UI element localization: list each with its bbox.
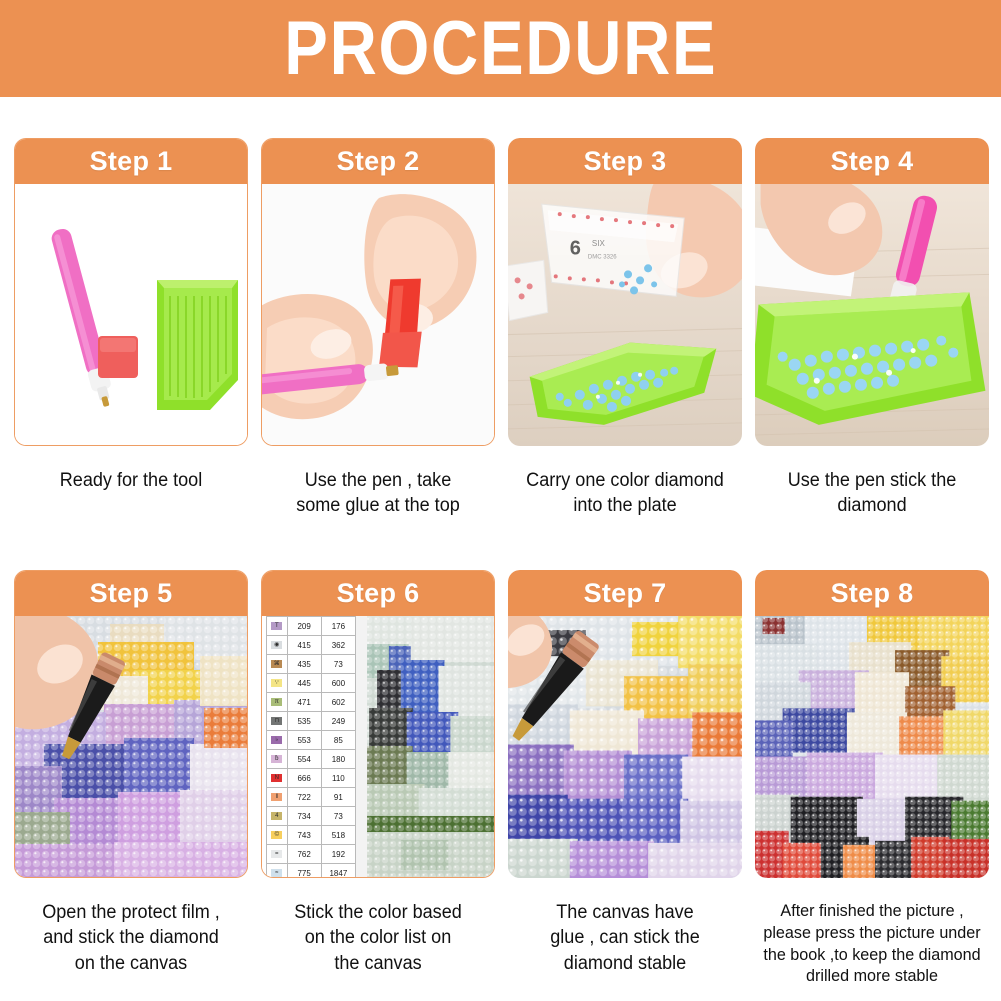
step-caption-1: Ready for the tool [20,468,242,493]
step-photo-1 [15,184,247,445]
color-symbol-cell: ⌘ [267,655,288,674]
step-photo-8 [755,616,989,878]
color-swatch: ≈ [271,869,282,877]
page-title: PROCEDURE [284,11,717,87]
color-code-cell: 762 [287,845,321,864]
color-symbol-cell: ƀ [267,750,288,769]
pen-placing-diamond-illustration [508,616,742,878]
color-swatch: = [271,850,282,858]
step-card-7[interactable]: Step 7 [508,570,742,878]
svg-text:SIX: SIX [592,239,606,248]
color-symbol-cell: ◉ [267,636,288,655]
step-photo-7 [508,616,742,878]
color-list-row: ⊓535249 [267,712,356,731]
pouring-diamonds-illustration: 6 SIX DMC 3326 [508,184,742,446]
color-code-cell: 554 [287,750,321,769]
color-list-row: ƀ554180 [267,750,356,769]
color-list-row: ⌘43573 [267,655,356,674]
color-list-row: ≈7751847 [267,864,356,878]
color-swatch: π [271,698,282,706]
step-cell-1: Step 1 [14,138,248,493]
step-header-label-7: Step 7 [584,578,667,609]
color-symbol-cell: ≈ [267,864,288,878]
step-cell-7: Step 7 [508,570,742,976]
color-count-cell: 518 [321,826,355,845]
color-code-cell: 553 [287,731,321,750]
steps-row-1: Step 1 [0,138,1001,558]
color-swatch: ♭ [271,736,282,744]
color-list-row: =762192 [267,845,356,864]
color-list-row: N666110 [267,769,356,788]
step-header-1: Step 1 [14,138,248,184]
color-code-cell: 415 [287,636,321,655]
color-swatch: ‖ [271,793,282,801]
color-code-cell: 535 [287,712,321,731]
color-code-cell: 435 [287,655,321,674]
step-cell-2: Step 2 [261,138,495,519]
step-caption-3: Carry one color diamond into the plate [514,468,736,519]
color-count-cell: 1847 [321,864,355,878]
svg-text:6: 6 [570,237,581,259]
step-header-label-8: Step 8 [831,578,914,609]
color-symbol-cell: = [267,845,288,864]
step-cell-8: Step 8 [755,570,989,987]
color-symbol-cell: ‖ [267,788,288,807]
color-list-row: π471602 [267,693,356,712]
color-count-cell: 73 [321,807,355,826]
step-caption-2: Use the pen , take some glue at the top [267,468,489,519]
step-caption-5: Open the protect film , and stick the di… [20,900,242,976]
color-code-cell: 743 [287,826,321,845]
pen-picking-diamond-illustration [755,184,989,446]
color-swatch: ⊓ [271,717,282,725]
color-symbol-cell: ♭ [267,731,288,750]
step-caption-4: Use the pen stick the diamond [761,468,983,519]
color-swatch: ⌘ [271,660,282,668]
color-count-cell: 600 [321,674,355,693]
color-symbol-cell: π [267,693,288,712]
step-header-6: Step 6 [261,570,495,616]
step-header-label-6: Step 6 [337,578,420,609]
color-list-row: ◉415362 [267,636,356,655]
color-list-row: 473473 [267,807,356,826]
step-header-label-5: Step 5 [90,578,173,609]
color-swatch: ◉ [271,641,282,649]
step-card-3[interactable]: Step 3 [508,138,742,446]
color-count-cell: 192 [321,845,355,864]
color-count-cell: 176 [321,617,355,636]
step-header-5: Step 5 [14,570,248,616]
step-card-1[interactable]: Step 1 [14,138,248,446]
step-cell-4: Step 4 [755,138,989,519]
step-caption-7: The canvas have glue , can stick the dia… [514,900,736,976]
color-symbol-cell: T [267,617,288,636]
step-header-2: Step 2 [261,138,495,184]
color-list-row: T209176 [267,617,356,636]
svg-text:DMC 3326: DMC 3326 [588,254,617,260]
color-code-cell: 722 [287,788,321,807]
tool-kit-illustration [15,184,247,445]
color-code-cell: 734 [287,807,321,826]
step-cell-3: Step 3 [508,138,742,519]
step-card-2[interactable]: Step 2 [261,138,495,446]
step-photo-5 [15,616,247,877]
step-header-4: Step 4 [755,138,989,184]
finished-painting-illustration [755,616,989,878]
color-symbol-cell: 4 [267,807,288,826]
steps-row-2: Step 5 [0,570,1001,990]
color-swatch: N [271,774,282,782]
color-symbol-cell: © [267,826,288,845]
color-count-cell: 249 [321,712,355,731]
hands-pen-glue-illustration [262,184,494,445]
step-photo-2 [262,184,494,445]
color-swatch: © [271,831,282,839]
step-card-8[interactable]: Step 8 [755,570,989,878]
color-swatch: 4 [271,812,282,820]
color-count-cell: 73 [321,655,355,674]
step-card-6[interactable]: Step 6 [261,570,495,878]
color-list-row: ‖72291 [267,788,356,807]
step-card-5[interactable]: Step 5 [14,570,248,878]
step-header-label-4: Step 4 [831,146,914,177]
step-cell-5: Step 5 [14,570,248,976]
step-photo-3: 6 SIX DMC 3326 [508,184,742,446]
hand-pen-on-canvas-illustration [15,616,247,877]
color-count-cell: 91 [321,788,355,807]
step-caption-6: Stick the color based on the color list … [267,900,489,976]
color-code-cell: 445 [287,674,321,693]
color-code-cell: 209 [287,617,321,636]
color-count-cell: 180 [321,750,355,769]
steps-grid: Step 1 [0,97,1001,1001]
color-count-cell: 602 [321,693,355,712]
color-swatch: T [271,622,282,630]
step-photo-6: T209176◉415362⌘43573∵445600π471602⊓53524… [262,616,494,877]
step-header-8: Step 8 [755,570,989,616]
step-header-label-2: Step 2 [337,146,420,177]
step-photo-4 [755,184,989,446]
color-list-row: ♭55385 [267,731,356,750]
color-symbol-cell: ∵ [267,674,288,693]
color-count-cell: 110 [321,769,355,788]
color-count-cell: 362 [321,636,355,655]
color-list-table: T209176◉415362⌘43573∵445600π471602⊓53524… [266,616,356,877]
color-code-cell: 666 [287,769,321,788]
color-swatch: ƀ [271,755,282,763]
color-list-row: ∵445600 [267,674,356,693]
color-list-table-container: T209176◉415362⌘43573∵445600π471602⊓53524… [266,616,356,877]
step-caption-8: After finished the picture , please pres… [761,900,983,987]
color-code-cell: 775 [287,864,321,878]
color-list-row: ©743518 [267,826,356,845]
color-symbol-cell: ⊓ [267,712,288,731]
step-header-label-1: Step 1 [90,146,173,177]
color-count-cell: 85 [321,731,355,750]
step-header-label-3: Step 3 [584,146,667,177]
step-cell-6: Step 6 [261,570,495,976]
color-symbol-cell: N [267,769,288,788]
step-header-7: Step 7 [508,570,742,616]
color-list-table-body: T209176◉415362⌘43573∵445600π471602⊓53524… [267,617,356,878]
color-code-cell: 471 [287,693,321,712]
step-card-4[interactable]: Step 4 [755,138,989,446]
color-swatch: ∵ [271,679,282,687]
step-header-3: Step 3 [508,138,742,184]
page-header-banner: PROCEDURE [0,0,1001,97]
